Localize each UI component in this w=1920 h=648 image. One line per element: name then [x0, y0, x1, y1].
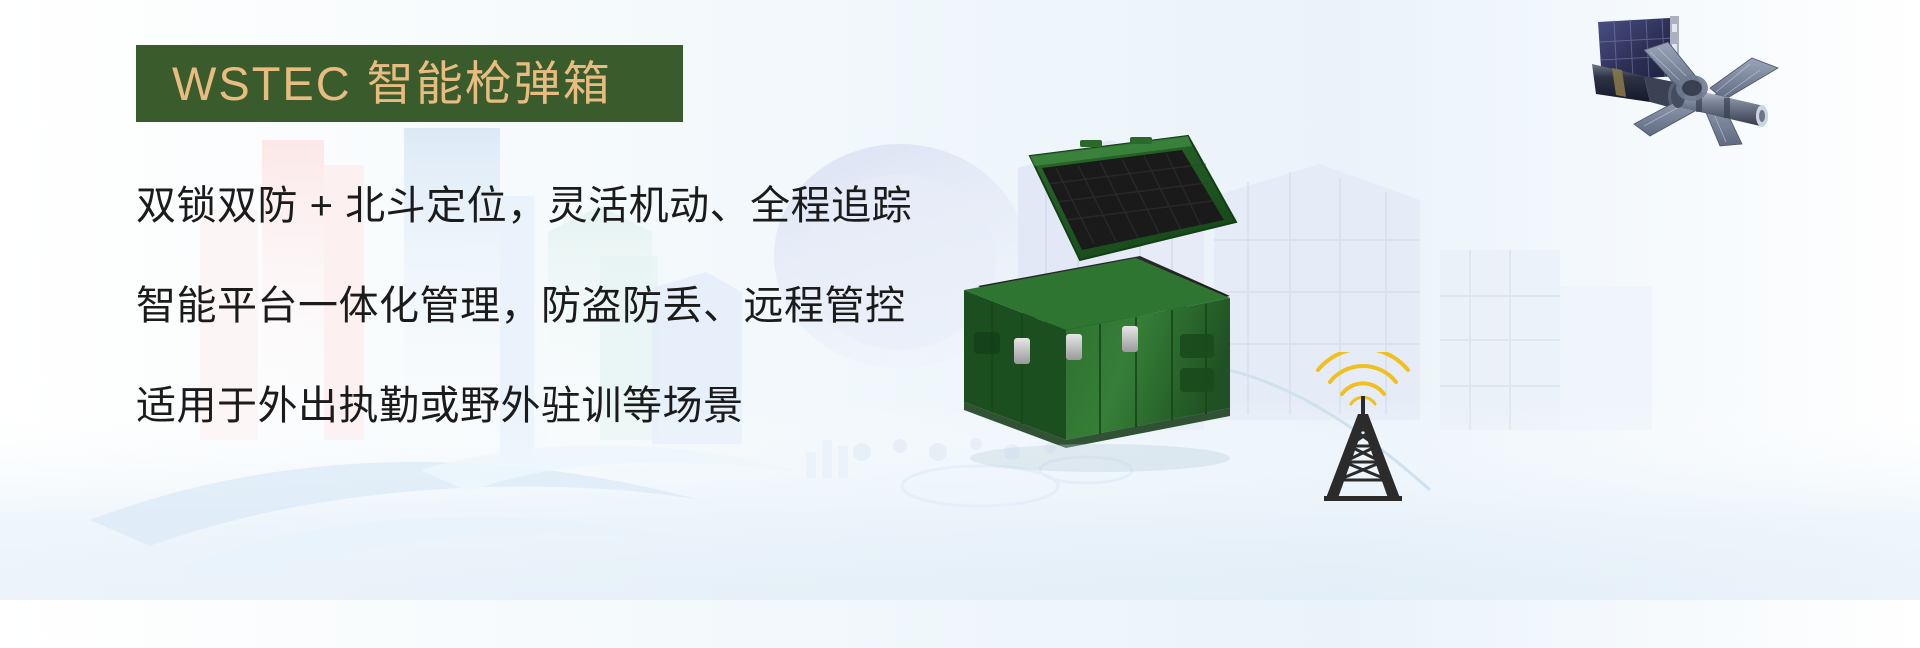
product-banner: WSTEC 智能枪弹箱 双锁双防 + 北斗定位，灵活机动、全程追踪 智能平台一体… — [0, 0, 1920, 648]
intelligent-ammunition-case — [930, 110, 1270, 490]
case-lid — [1030, 136, 1236, 260]
feature-copy-block: 双锁双防 + 北斗定位，灵活机动、全程追踪 智能平台一体化管理，防盗防丢、远程管… — [136, 186, 956, 426]
page-title: WSTEC 智能枪弹箱 — [172, 60, 612, 107]
feature-line-2: 智能平台一体化管理，防盗防丢、远程管控 — [136, 286, 956, 326]
title-bar: WSTEC 智能枪弹箱 — [136, 45, 683, 122]
satellite-antenna — [1676, 75, 1708, 101]
signal-tower-icon — [1296, 352, 1431, 502]
tower-structure — [1326, 414, 1400, 498]
signal-waves — [1318, 352, 1408, 394]
case-body — [964, 258, 1230, 448]
feature-line-3: 适用于外出执勤或野外驻训等场景 — [136, 386, 956, 426]
satellite-icon — [1592, 2, 1802, 147]
feature-line-1: 双锁双防 + 北斗定位，灵活机动、全程追踪 — [136, 186, 956, 226]
